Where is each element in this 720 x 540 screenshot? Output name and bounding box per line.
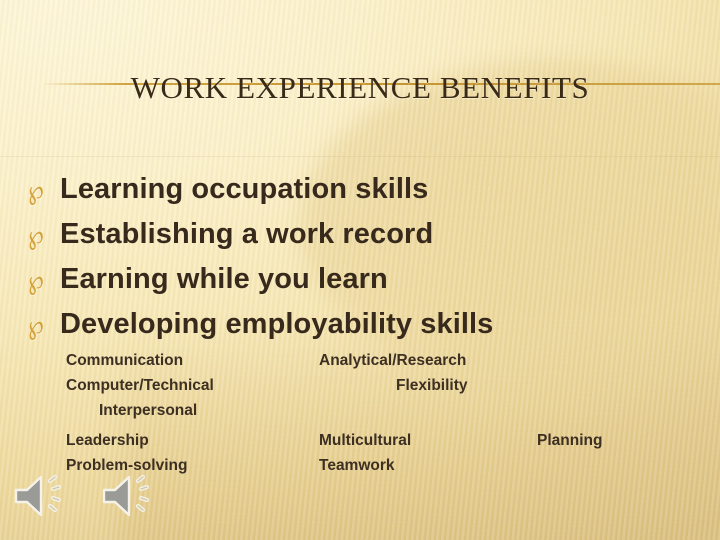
- table-row: Computer/Technical Flexibility: [66, 373, 686, 398]
- skill-cell: Interpersonal: [66, 402, 197, 419]
- flourish-bullet-icon: ℘: [22, 256, 64, 302]
- skill-cell: Teamwork: [319, 457, 395, 474]
- list-item: ℘ Earning while you learn: [26, 258, 694, 303]
- skill-cell: Computer/Technical: [66, 377, 214, 394]
- bullet-list: ℘ Learning occupation skills ℘ Establish…: [26, 168, 694, 348]
- skill-cell: Analytical/Research: [319, 352, 466, 369]
- table-row: Interpersonal: [66, 398, 686, 423]
- bullet-label: Establishing a work record: [60, 213, 433, 255]
- skills-grid: Communication Analytical/Research Comput…: [66, 348, 686, 478]
- bullet-label: Earning while you learn: [60, 258, 388, 300]
- speaker-icon[interactable]: [12, 470, 74, 528]
- background-seam-line: [0, 156, 720, 157]
- slide-canvas: Work Experience Benefits ℘ Learning occu…: [0, 0, 720, 540]
- table-row: Communication Analytical/Research: [66, 348, 686, 373]
- list-item: ℘ Establishing a work record: [26, 213, 694, 258]
- audio-controls: [12, 470, 162, 528]
- skill-cell: Leadership: [66, 432, 149, 449]
- bullet-label: Learning occupation skills: [60, 168, 428, 210]
- skill-cell: Planning: [537, 432, 602, 449]
- bullet-label: Developing employability skills: [60, 303, 493, 345]
- flourish-bullet-icon: ℘: [22, 166, 64, 212]
- table-row: Leadership Multicultural Planning: [66, 428, 686, 453]
- flourish-bullet-icon: ℘: [22, 301, 64, 347]
- skill-cell: Multicultural: [319, 432, 411, 449]
- list-item: ℘ Developing employability skills: [26, 303, 694, 348]
- skill-cell: Communication: [66, 352, 183, 369]
- list-item: ℘ Learning occupation skills: [26, 168, 694, 213]
- page-title: Work Experience Benefits: [0, 68, 720, 108]
- skill-cell: Flexibility: [319, 377, 468, 394]
- speaker-icon[interactable]: [100, 470, 162, 528]
- flourish-bullet-icon: ℘: [22, 211, 64, 257]
